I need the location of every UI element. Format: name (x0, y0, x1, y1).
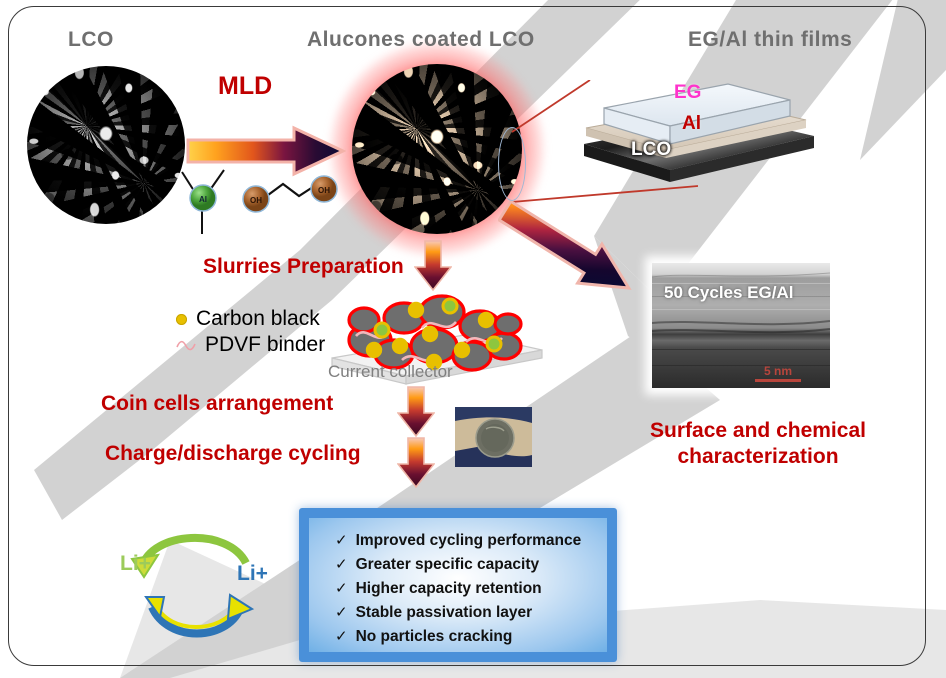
check-icon: ✓ (335, 553, 348, 577)
process-label-charge-discharge: Charge/discharge cycling (105, 442, 361, 466)
sem-texture (352, 64, 522, 234)
eg-precursor-chain: OH OH (243, 176, 337, 212)
outcomes-list: ✓ Improved cycling performance ✓ Greater… (309, 518, 607, 649)
check-icon: ✓ (335, 529, 348, 553)
process-label-mld: MLD (218, 72, 272, 101)
oh-node-2-label: OH (318, 186, 330, 195)
stack-label-al: Al (682, 113, 701, 135)
outcome-text: Stable passivation layer (356, 601, 533, 625)
legend-row-pdvf-binder: PDVF binder (176, 332, 325, 358)
outcomes-panel: ✓ Improved cycling performance ✓ Greater… (299, 508, 617, 662)
column-title-eg-al: EG/Al thin films (688, 28, 852, 52)
outcome-item: ✓ No particles cracking (335, 625, 607, 649)
li-extraction-arrow (146, 595, 252, 634)
cycling-down-arrow (397, 437, 435, 489)
stack-label-lco: LCO (631, 139, 671, 161)
column-title-alucones: Alucones coated LCO (307, 28, 535, 52)
outcome-item: ✓ Higher capacity retention (335, 577, 607, 601)
oh-node-1-label: OH (250, 196, 262, 205)
column-title-lco: LCO (68, 28, 114, 52)
process-label-coin-cells: Coin cells arrangement (101, 392, 333, 416)
outcome-item: ✓ Greater specific capacity (335, 553, 607, 577)
sem-image-lco-particle (27, 66, 185, 224)
check-icon: ✓ (335, 577, 348, 601)
graphical-abstract-canvas: LCO Alucones coated LCO EG/Al thin films… (0, 0, 946, 678)
coin-cell-photograph (455, 407, 532, 467)
sem-texture (27, 66, 185, 224)
slurry-legend: Carbon black PDVF binder (176, 306, 325, 358)
outcome-item: ✓ Stable passivation layer (335, 601, 607, 625)
outcome-text: Greater specific capacity (356, 553, 540, 577)
stack-label-eg: EG (674, 82, 701, 104)
outcome-text: Higher capacity retention (356, 577, 542, 601)
scale-bar-label: 5 nm (755, 365, 801, 377)
li-ion-label-outer: Li+ (120, 552, 151, 576)
li-ion-label-inner: Li+ (237, 562, 268, 586)
check-icon: ✓ (335, 625, 348, 649)
sem-image-alucone-coated-lco (352, 64, 522, 234)
callout-ellipse (498, 127, 526, 201)
outcome-text: No particles cracking (356, 625, 513, 649)
tem-caption: 50 Cycles EG/Al (664, 283, 793, 303)
scale-bar-line (755, 379, 801, 382)
tem-scale-bar: 5 nm (755, 365, 801, 382)
legend-label-pdvf-binder: PDVF binder (205, 333, 325, 357)
check-icon: ✓ (335, 601, 348, 625)
legend-label-carbon-black: Carbon black (196, 307, 320, 331)
legend-row-carbon-black: Carbon black (176, 306, 325, 332)
outcome-text: Improved cycling performance (356, 529, 582, 553)
tem-cross-section-image (652, 263, 830, 388)
process-label-slurries-preparation: Slurries Preparation (203, 255, 404, 279)
slurries-down-arrow (414, 240, 452, 292)
binder-wave-icon (176, 339, 196, 351)
coin-cell-down-arrow (397, 386, 435, 438)
mld-gradient-arrow (186, 125, 346, 177)
al-precursor-node: Al (182, 170, 224, 234)
tem-layer-bands (652, 263, 830, 388)
carbon-black-dot-icon (176, 314, 187, 325)
process-label-surface-characterization: Surface and chemical characterization (608, 418, 908, 470)
current-collector-label: Current collector (328, 362, 453, 382)
al-node-label: Al (199, 195, 207, 204)
outcome-item: ✓ Improved cycling performance (335, 529, 607, 553)
characterization-gradient-arrow (498, 200, 678, 310)
